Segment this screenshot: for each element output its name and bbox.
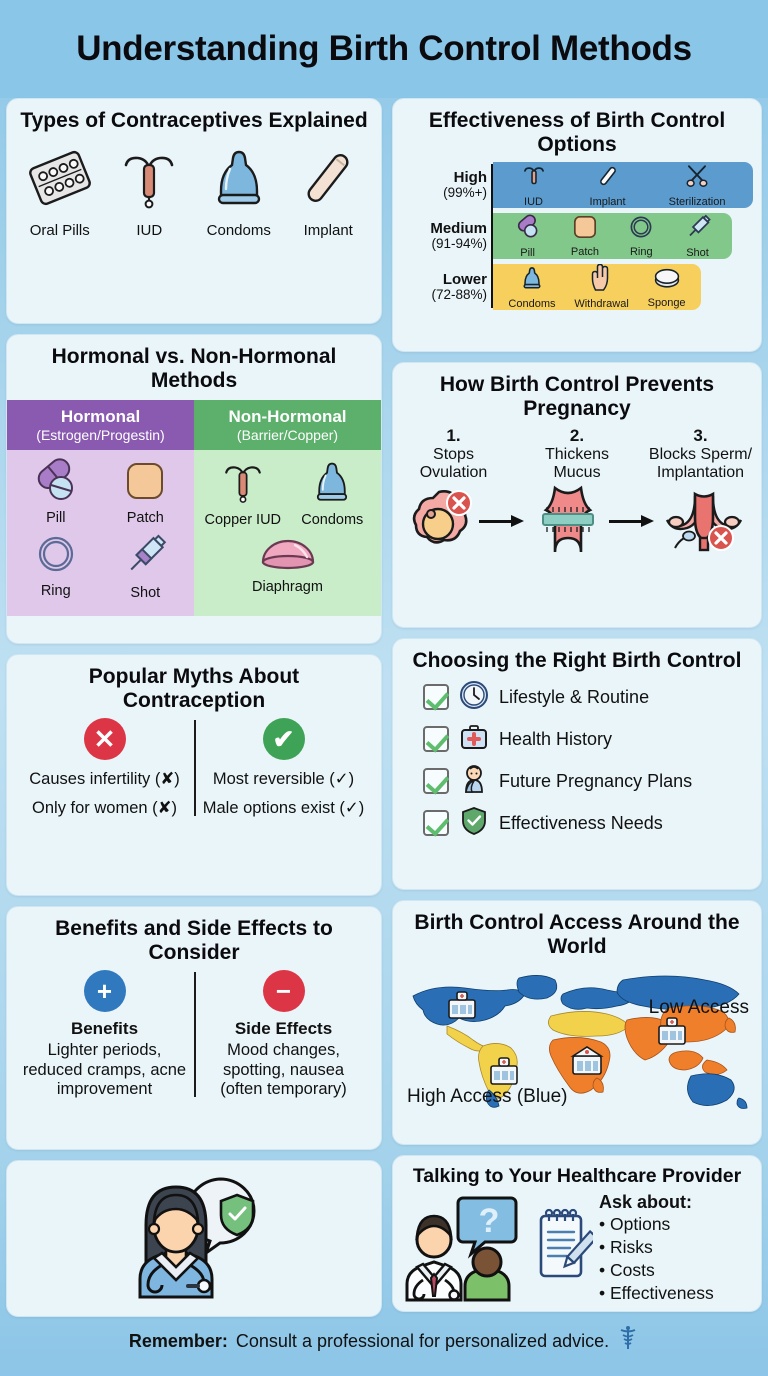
effectiveness-chart: High (99%+) IUD [401,162,753,310]
effectiveness-bar-high: IUD Implant [493,162,753,208]
level-range: (91-94%) [401,237,487,251]
checkbox-checked-icon[interactable] [423,768,449,794]
hormonal-header-title: Hormonal [11,407,190,427]
nonhormonal-column: Copper IUD Condoms [194,450,381,616]
side-effects-title: Side Effects [235,1019,332,1039]
check-badge-icon: ✔ [263,718,305,760]
method-label: IUD [524,196,543,208]
page-footer: Remember: Consult a professional for per… [0,1317,768,1365]
syringe-icon [121,531,169,584]
step-number: 3. [648,426,753,446]
content-grid: Types of Contraceptives Explained [0,98,768,1317]
ovary-blocked-icon [405,486,477,557]
effectiveness-method-patch: Patch [571,214,599,258]
nonhormonal-item-label: Diaphragm [252,580,323,596]
hormonal-item-ring: Ring [11,531,101,602]
minus-badge-icon: − [263,970,305,1012]
level-name: High [401,170,487,186]
card-title: How Birth Control Prevents Pregnancy [401,373,753,420]
method-label: Pill [520,247,535,259]
method-label: Sterilization [669,196,726,208]
checkbox-checked-icon[interactable] [423,726,449,752]
hormonal-item-pill: Pill [11,458,101,527]
effectiveness-bar-lower: Condoms Withdrawal [493,264,701,310]
type-item-condoms: Condoms [195,145,283,239]
prevention-step-2: 2. Thickens Mucus [525,426,630,482]
card-title: Birth Control Access Around the World [401,911,753,958]
effectiveness-method-condoms: Condoms [508,264,555,310]
nonhormonal-header-cell: Non-Hormonal (Barrier/Copper) [194,400,381,450]
type-item-label: Implant [304,222,353,239]
nonhormonal-item-copper-iud: Copper IUD [198,458,288,529]
region-north-africa [548,1011,629,1036]
clock-icon [459,680,489,715]
iud-icon [116,145,182,216]
effectiveness-row-high: High (99%+) IUD [493,162,753,208]
nonhormonal-item-label: Condoms [301,513,363,529]
diaphragm-icon [259,535,317,578]
effectiveness-row-medium: Medium (91-94%) [493,213,753,259]
prevention-step-1: 1. Stops Ovulation [401,426,506,482]
pill-pack-icon [24,145,96,216]
hormonal-header-sub: (Estrogen/Progestin) [11,427,190,444]
effectiveness-row-label: Medium (91-94%) [401,221,487,251]
card-global-access-map: Birth Control Access Around the World [392,900,762,1145]
talking-body: ? [401,1190,753,1307]
effectiveness-method-shot: Shot [684,213,712,259]
card-title: Popular Myths About Contraception [15,665,373,712]
card-title: Hormonal vs. Non-Hormonal Methods [7,345,381,392]
page-title: Understanding Birth Control Methods [76,29,692,69]
contraceptive-type-list: Oral Pills IUD [15,145,373,239]
method-label: Ring [630,246,653,258]
right-column: Effectiveness of Birth Control Options H… [392,98,762,1317]
choosing-item-future-pregnancy[interactable]: Future Pregnancy Plans [423,764,753,799]
effectiveness-row-label: Lower (72-88%) [401,272,487,302]
myth-line: Only for women (✘) [32,798,177,818]
page-header: Understanding Birth Control Methods [0,0,768,98]
left-column: Types of Contraceptives Explained [6,98,382,1317]
map-caption-high-access: High Access (Blue) [407,1087,568,1108]
implant-rod-icon [295,145,361,216]
effectiveness-method-pill: Pill [514,213,542,259]
arrow-icon [609,515,657,527]
type-item-label: Condoms [207,222,271,239]
card-choosing-right-bc: Choosing the Right Birth Control Lifesty… [392,638,762,890]
prevention-steps: 1. Stops Ovulation 2. Thickens Mucus 3. … [401,426,753,482]
checkbox-checked-icon[interactable] [423,684,449,710]
ask-about-label: Ask about: [599,1192,714,1213]
benefits-divider [194,972,196,1097]
nonhormonal-item-diaphragm: Diaphragm [198,535,377,596]
nonhormonal-item-label: Copper IUD [204,513,281,529]
syringe-icon [684,213,712,246]
region-australia [687,1074,734,1106]
ask-about-block: Ask about: • Options • Risks • Costs • E… [599,1192,714,1304]
myth-line: Male options exist (✓) [203,798,364,818]
region-greenland [517,975,557,999]
cervix-mucus-icon [529,484,607,559]
card-effectiveness: Effectiveness of Birth Control Options H… [392,98,762,352]
ask-about-item: • Options [599,1213,714,1236]
myths-true-column: ✔ Most reversible (✓) Male options exist… [194,718,373,818]
sperm-icon [675,531,695,548]
effectiveness-method-withdrawal: Withdrawal [574,264,628,310]
hormonal-item-shot: Shot [101,531,191,602]
iud-icon [521,162,547,195]
region-japan [725,1018,735,1032]
condom-icon [520,264,544,297]
level-name: Lower [401,272,487,288]
doctor-patient-icon: ? [401,1190,527,1307]
choosing-item-health-history[interactable]: Health History [423,722,753,757]
card-talking-to-provider: Talking to Your Healthcare Provider ? [392,1155,762,1312]
prevention-step-3: 3. Blocks Sperm/ Implantation [648,426,753,482]
baby-icon [459,764,489,799]
iud-icon [219,458,267,511]
type-item-oral-pills: Oral Pills [16,145,104,239]
choosing-item-effectiveness[interactable]: Effectiveness Needs [423,806,753,841]
hormonal-item-label: Ring [41,584,71,600]
card-doctor-illustration [6,1160,382,1317]
hormonal-item-label: Pill [46,511,65,527]
cross-badge-icon: ✕ [84,718,126,760]
method-label: Condoms [508,298,555,310]
hormonal-item-label: Patch [127,511,164,527]
side-effects-description: Mood changes, spotting, nausea (often te… [200,1041,367,1099]
card-title: Types of Contraceptives Explained [15,109,373,133]
ring-icon [628,214,654,245]
footer-bold-label: Remember: [129,1331,228,1352]
implant-rod-icon [595,162,621,195]
card-popular-myths: Popular Myths About Contraception ✕ Caus… [6,654,382,896]
hormonal-header-cell: Hormonal (Estrogen/Progestin) [7,400,194,450]
hand-icon [589,264,615,297]
card-prevents-pregnancy: How Birth Control Prevents Pregnancy 1. … [392,362,762,628]
medical-kit-icon [459,722,489,757]
benefits-title: Benefits [71,1019,138,1039]
side-effects-column: − Side Effects Mood changes, spotting, n… [194,970,373,1099]
type-item-iud: IUD [105,145,193,239]
card-title: Benefits and Side Effects to Consider [15,917,373,964]
scissors-tubes-icon [682,162,712,195]
nonhormonal-header-sub: (Barrier/Copper) [198,427,377,444]
card-types-of-contraceptives: Types of Contraceptives Explained [6,98,382,324]
step-number: 1. [401,426,506,446]
caduceus-icon [617,1326,639,1357]
effectiveness-method-sterilization: Sterilization [669,162,726,208]
hormonal-column: Pill Patch [7,450,194,616]
card-title: Talking to Your Healthcare Provider [401,1166,753,1188]
patch-icon [122,458,168,509]
choosing-item-label: Health History [499,729,612,750]
myths-divider [194,720,196,816]
benefits-column: + Benefits Lighter periods, reduced cram… [15,970,194,1099]
checkbox-checked-icon[interactable] [423,810,449,836]
world-access-map: High Access (Blue) Low Access [401,964,753,1114]
hormonal-table-header: Hormonal (Estrogen/Progestin) Non-Hormon… [7,400,381,450]
hormonal-item-patch: Patch [101,458,191,527]
myths-comparison: ✕ Causes infertility (✘) Only for women … [15,718,373,818]
pills-icon [514,213,542,246]
method-label: Withdrawal [574,298,628,310]
hormonal-table-body: Pill Patch [7,450,381,616]
ask-about-item: • Costs [599,1259,714,1282]
svg-text:?: ? [479,1202,500,1240]
sponge-icon [653,265,681,296]
condom-icon [208,145,270,216]
arrow-icon [479,515,527,527]
choosing-checklist: Lifestyle & Routine Health History [401,680,753,841]
step-text: Thickens Mucus [525,446,630,482]
choosing-item-lifestyle[interactable]: Lifestyle & Routine [423,680,753,715]
effectiveness-method-ring: Ring [628,214,654,258]
method-label: Sponge [648,297,686,309]
type-item-implant: Implant [284,145,372,239]
effectiveness-row-lower: Lower (72-88%) Condoms [493,264,753,310]
footer-text: Consult a professional for personalized … [236,1331,609,1352]
plus-badge-icon: + [84,970,126,1012]
nonhormonal-header-title: Non-Hormonal [198,407,377,427]
level-range: (99%+) [401,186,487,200]
prevention-step-icons [401,484,753,559]
type-item-label: Oral Pills [30,222,90,239]
step-number: 2. [525,426,630,446]
region-southeast-asia [669,1051,703,1070]
level-range: (72-88%) [401,288,487,302]
myth-line: Causes infertility (✘) [29,769,179,789]
myth-line: Most reversible (✓) [213,769,354,789]
effectiveness-method-implant: Implant [590,162,626,208]
shield-check-icon [459,806,489,841]
choosing-item-label: Effectiveness Needs [499,813,663,834]
pills-icon [30,458,82,509]
choosing-item-label: Lifestyle & Routine [499,687,649,708]
method-label: Implant [590,196,626,208]
method-label: Patch [571,246,599,258]
level-name: Medium [401,221,487,237]
clipboard-pencil-icon [533,1206,593,1291]
benefits-comparison: + Benefits Lighter periods, reduced cram… [15,970,373,1099]
benefits-description: Lighter periods, reduced cramps, acne im… [21,1041,188,1099]
region-madagascar [593,1078,603,1092]
method-label: Shot [686,247,709,259]
effectiveness-method-iud: IUD [521,162,547,208]
step-text: Blocks Sperm/ Implantation [648,446,753,482]
nonhormonal-item-condoms: Condoms [288,458,378,529]
choosing-item-label: Future Pregnancy Plans [499,771,692,792]
region-indonesia [702,1060,727,1075]
card-title: Effectiveness of Birth Control Options [401,109,753,156]
ring-icon [33,531,79,582]
region-new-zealand [737,1098,747,1109]
map-caption-low-access: Low Access [649,998,749,1019]
patch-icon [572,214,598,245]
myths-false-column: ✕ Causes infertility (✘) Only for women … [15,718,194,818]
effectiveness-row-label: High (99%+) [401,170,487,200]
condom-icon [310,458,354,511]
step-text: Stops Ovulation [401,446,506,482]
effectiveness-bar-medium: Pill Patch [493,213,732,259]
ask-about-item: • Effectiveness [599,1282,714,1305]
card-title: Choosing the Right Birth Control [401,649,753,673]
card-hormonal-vs-nonhormonal: Hormonal vs. Non-Hormonal Methods Hormon… [6,334,382,644]
hormonal-item-label: Shot [130,586,160,602]
ask-about-item: • Risks [599,1236,714,1259]
effectiveness-method-sponge: Sponge [648,265,686,309]
card-benefits-side-effects: Benefits and Side Effects to Consider + … [6,906,382,1150]
uterus-blocked-icon [659,484,749,559]
female-doctor-shield-icon [100,1173,288,1304]
type-item-label: IUD [136,222,162,239]
